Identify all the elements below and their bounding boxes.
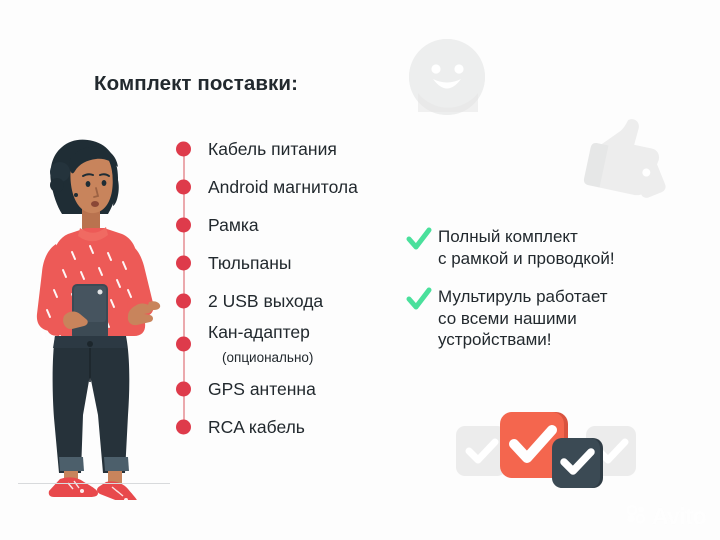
bullet-dot-icon bbox=[176, 256, 191, 271]
benefit-item: Полный комплект с рамкой и проводкой! bbox=[406, 226, 706, 269]
list-item-label: Кан-адаптер bbox=[208, 322, 310, 342]
list-item-sublabel: (опционально) bbox=[222, 350, 313, 365]
list-item: Кабель питания bbox=[176, 130, 416, 168]
bullet-dot-icon bbox=[176, 337, 191, 352]
green-check-icon bbox=[406, 287, 432, 313]
benefit-label: Полный комплект с рамкой и проводкой! bbox=[438, 226, 615, 269]
package-contents-list: Кабель питания Android магнитола Рамка Т… bbox=[176, 130, 416, 446]
thumbs-up-icon bbox=[576, 112, 672, 206]
benefits-list: Полный комплект с рамкой и проводкой! Му… bbox=[406, 226, 706, 368]
list-item: Android магнитола bbox=[176, 168, 416, 206]
bullet-dot-icon bbox=[176, 420, 191, 435]
list-item-label: Рамка bbox=[208, 215, 259, 235]
avito-watermark: Avito bbox=[626, 503, 706, 530]
list-item: Рамка bbox=[176, 206, 416, 244]
green-check-icon bbox=[406, 227, 432, 253]
list-item-label: Тюльпаны bbox=[208, 253, 291, 273]
list-item-label: GPS антенна bbox=[208, 379, 316, 399]
ground-line bbox=[18, 483, 170, 484]
promo-card: Комплект поставки: bbox=[0, 0, 720, 540]
list-item-label: RCA кабель bbox=[208, 417, 305, 437]
benefit-item: Мультируль работает со всеми нашими устр… bbox=[406, 286, 706, 351]
list-item-label: Кабель питания bbox=[208, 139, 337, 159]
list-item-label: 2 USB выхода bbox=[208, 291, 323, 311]
list-item-label: Android магнитола bbox=[208, 177, 358, 197]
avito-brand-label: Avito bbox=[652, 503, 706, 530]
bullet-dot-icon bbox=[176, 218, 191, 233]
list-item: 2 USB выхода bbox=[176, 282, 416, 320]
checkbox-cards-icon bbox=[456, 408, 636, 496]
bullet-dot-icon bbox=[176, 294, 191, 309]
smiley-face-icon bbox=[408, 38, 486, 116]
list-item: GPS антенна bbox=[176, 370, 416, 408]
woman-pointing-illustration bbox=[16, 112, 176, 500]
avito-logo-icon bbox=[626, 505, 648, 529]
bullet-dot-icon bbox=[176, 382, 191, 397]
list-item: RCA кабель bbox=[176, 408, 416, 446]
list-item: Кан-адаптер (опционально) bbox=[176, 320, 416, 370]
bullet-dot-icon bbox=[176, 142, 191, 157]
bullet-dot-icon bbox=[176, 180, 191, 195]
benefit-label: Мультируль работает со всеми нашими устр… bbox=[438, 286, 608, 351]
page-title: Комплект поставки: bbox=[94, 72, 298, 96]
list-item: Тюльпаны bbox=[176, 244, 416, 282]
